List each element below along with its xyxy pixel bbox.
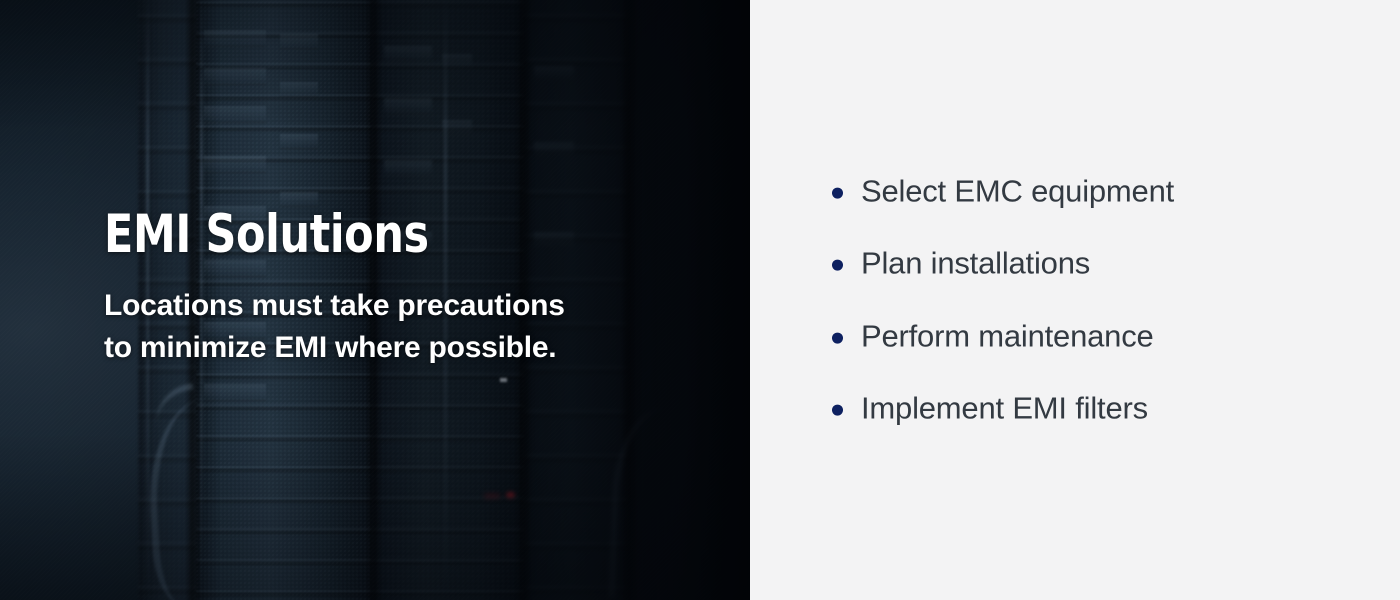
hero-subtitle-line-1: Locations must take precautions [104, 285, 704, 327]
bullet-dot-icon [832, 405, 843, 416]
list-item[interactable]: Plan installations [832, 247, 1372, 280]
list-item[interactable]: Select EMC equipment [832, 175, 1372, 208]
bullet-dot-icon [832, 333, 843, 344]
list-item[interactable]: Perform maintenance [832, 320, 1372, 353]
slide-root: EMI Solutions Locations must take precau… [0, 0, 1400, 600]
hero-caption: EMI Solutions Locations must take precau… [104, 208, 704, 369]
page-title: EMI Solutions [104, 208, 644, 261]
bullet-dot-icon [832, 188, 843, 199]
list-item[interactable]: Implement EMI filters [832, 392, 1372, 425]
list-item-label: Implement EMI filters [861, 392, 1148, 425]
bullet-list: Select EMC equipment Plan installations … [832, 175, 1372, 426]
hero-subtitle-line-2: to minimize EMI where possible. [104, 327, 704, 369]
list-item-label: Plan installations [861, 247, 1090, 280]
bullet-list-panel: Select EMC equipment Plan installations … [750, 0, 1400, 600]
hero-image-panel: EMI Solutions Locations must take precau… [0, 0, 750, 600]
list-item-label: Select EMC equipment [861, 175, 1174, 208]
list-item-label: Perform maintenance [861, 320, 1154, 353]
hero-subtitle: Locations must take precautions to minim… [104, 285, 704, 369]
bullet-dot-icon [832, 260, 843, 271]
